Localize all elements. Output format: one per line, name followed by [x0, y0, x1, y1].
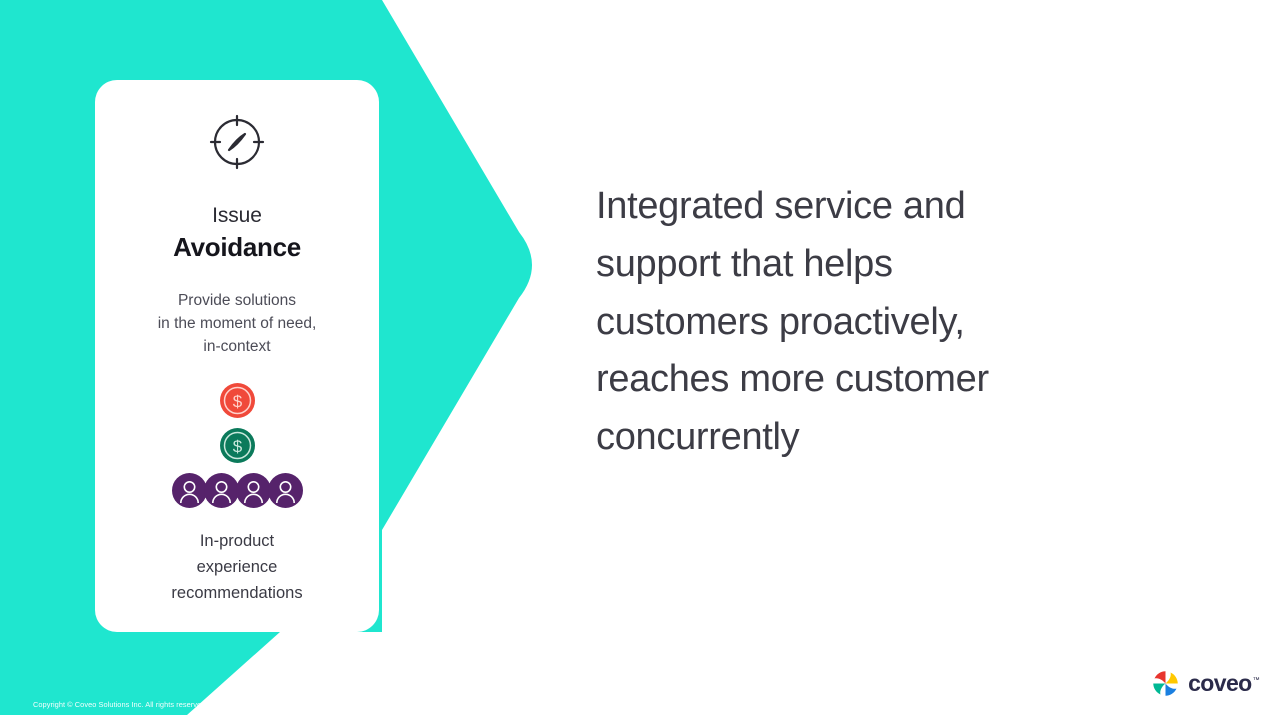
person-icon	[236, 473, 271, 508]
slide-canvas: Issue Avoidance Provide solutions in the…	[0, 0, 1275, 715]
people-icons-row	[172, 473, 303, 508]
dollar-red-badge-icon: $	[220, 383, 255, 418]
cost-badges: $ $	[220, 383, 255, 463]
card-footnote-line: experience	[122, 554, 352, 580]
headline-line: reaches more customer	[596, 351, 1106, 409]
svg-text:$: $	[232, 392, 242, 411]
headline-line: Integrated service and	[596, 178, 1106, 236]
headline: Integrated service and support that help…	[596, 178, 1106, 467]
card-description-line: in the moment of need,	[122, 313, 352, 336]
svg-text:$: $	[232, 437, 242, 456]
headline-line: customers proactively,	[596, 294, 1106, 352]
person-icon	[268, 473, 303, 508]
card-footnote: In-product experience recommendations	[122, 528, 352, 606]
card-footnote-line: recommendations	[122, 580, 352, 606]
coveo-wordmark: coveo™	[1188, 670, 1259, 697]
headline-line: support that helps	[596, 236, 1106, 294]
card-description: Provide solutions in the moment of need,…	[122, 290, 352, 359]
card-eyebrow: Issue	[212, 204, 262, 228]
person-icon	[172, 473, 207, 508]
card-description-line: Provide solutions	[122, 290, 352, 313]
headline-line: concurrently	[596, 409, 1106, 467]
copyright-text: Copyright © Coveo Solutions Inc. All rig…	[33, 700, 336, 709]
coveo-wordmark-text: coveo	[1188, 670, 1251, 696]
compass-icon	[207, 112, 267, 172]
trademark-symbol: ™	[1253, 677, 1259, 684]
card-footnote-line: In-product	[122, 528, 352, 554]
issue-avoidance-card: Issue Avoidance Provide solutions in the…	[95, 80, 379, 632]
person-icon	[204, 473, 239, 508]
dollar-green-badge-icon: $	[220, 428, 255, 463]
card-title: Avoidance	[173, 233, 301, 263]
card-description-line: in-context	[122, 336, 352, 359]
coveo-logo: coveo™	[1152, 670, 1259, 697]
coveo-pinwheel-icon	[1152, 670, 1179, 697]
